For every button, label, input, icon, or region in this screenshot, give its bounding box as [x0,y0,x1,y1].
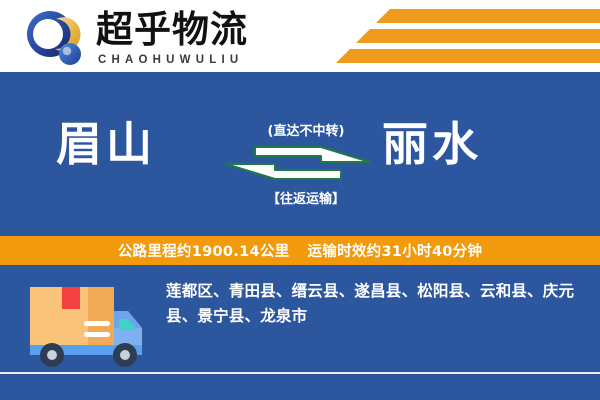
decorative-stripes [300,0,600,72]
logistics-route-banner: 超乎物流 CHAOHUWULIU 眉山 (直达不中转) 【往返运输】 丽水 公路… [0,0,600,400]
bottom-divider [0,372,600,374]
coverage-districts-text: 莲都区、青田县、缙云县、遂昌县、松阳县、云和县、庆元县、景宁县、龙泉市 [166,279,578,329]
delivery-truck-icon [22,275,148,375]
brand-logo: 超乎物流 CHAOHUWULIU [26,8,296,68]
banner-header: 超乎物流 CHAOHUWULIU [0,0,600,72]
origin-city: 眉山 [56,116,156,172]
circle-crescent-logo-icon [26,10,84,68]
stripe-1 [376,9,600,23]
brand-name-en: CHAOHUWULIU [98,54,243,66]
distance-text: 公路里程约1900.14公里 [118,240,290,261]
route-section: 眉山 (直达不中转) 【往返运输】 丽水 [0,72,600,236]
double-headed-arrow-icon [225,146,371,180]
destination-city: 丽水 [382,116,482,172]
coverage-section: 莲都区、青田县、缙云县、遂昌县、松阳县、云和县、庆元县、景宁县、龙泉市 [0,265,600,400]
stripe-2 [356,29,600,43]
duration-text: 运输时效约31小时40分钟 [307,240,482,261]
direct-route-note: (直达不中转) [246,120,366,139]
route-info-bar: 公路里程约1900.14公里 运输时效约31小时40分钟 [0,236,600,265]
roundtrip-note: 【往返运输】 [236,188,376,207]
brand-name-cn: 超乎物流 [96,8,248,52]
stripe-3 [336,49,600,63]
